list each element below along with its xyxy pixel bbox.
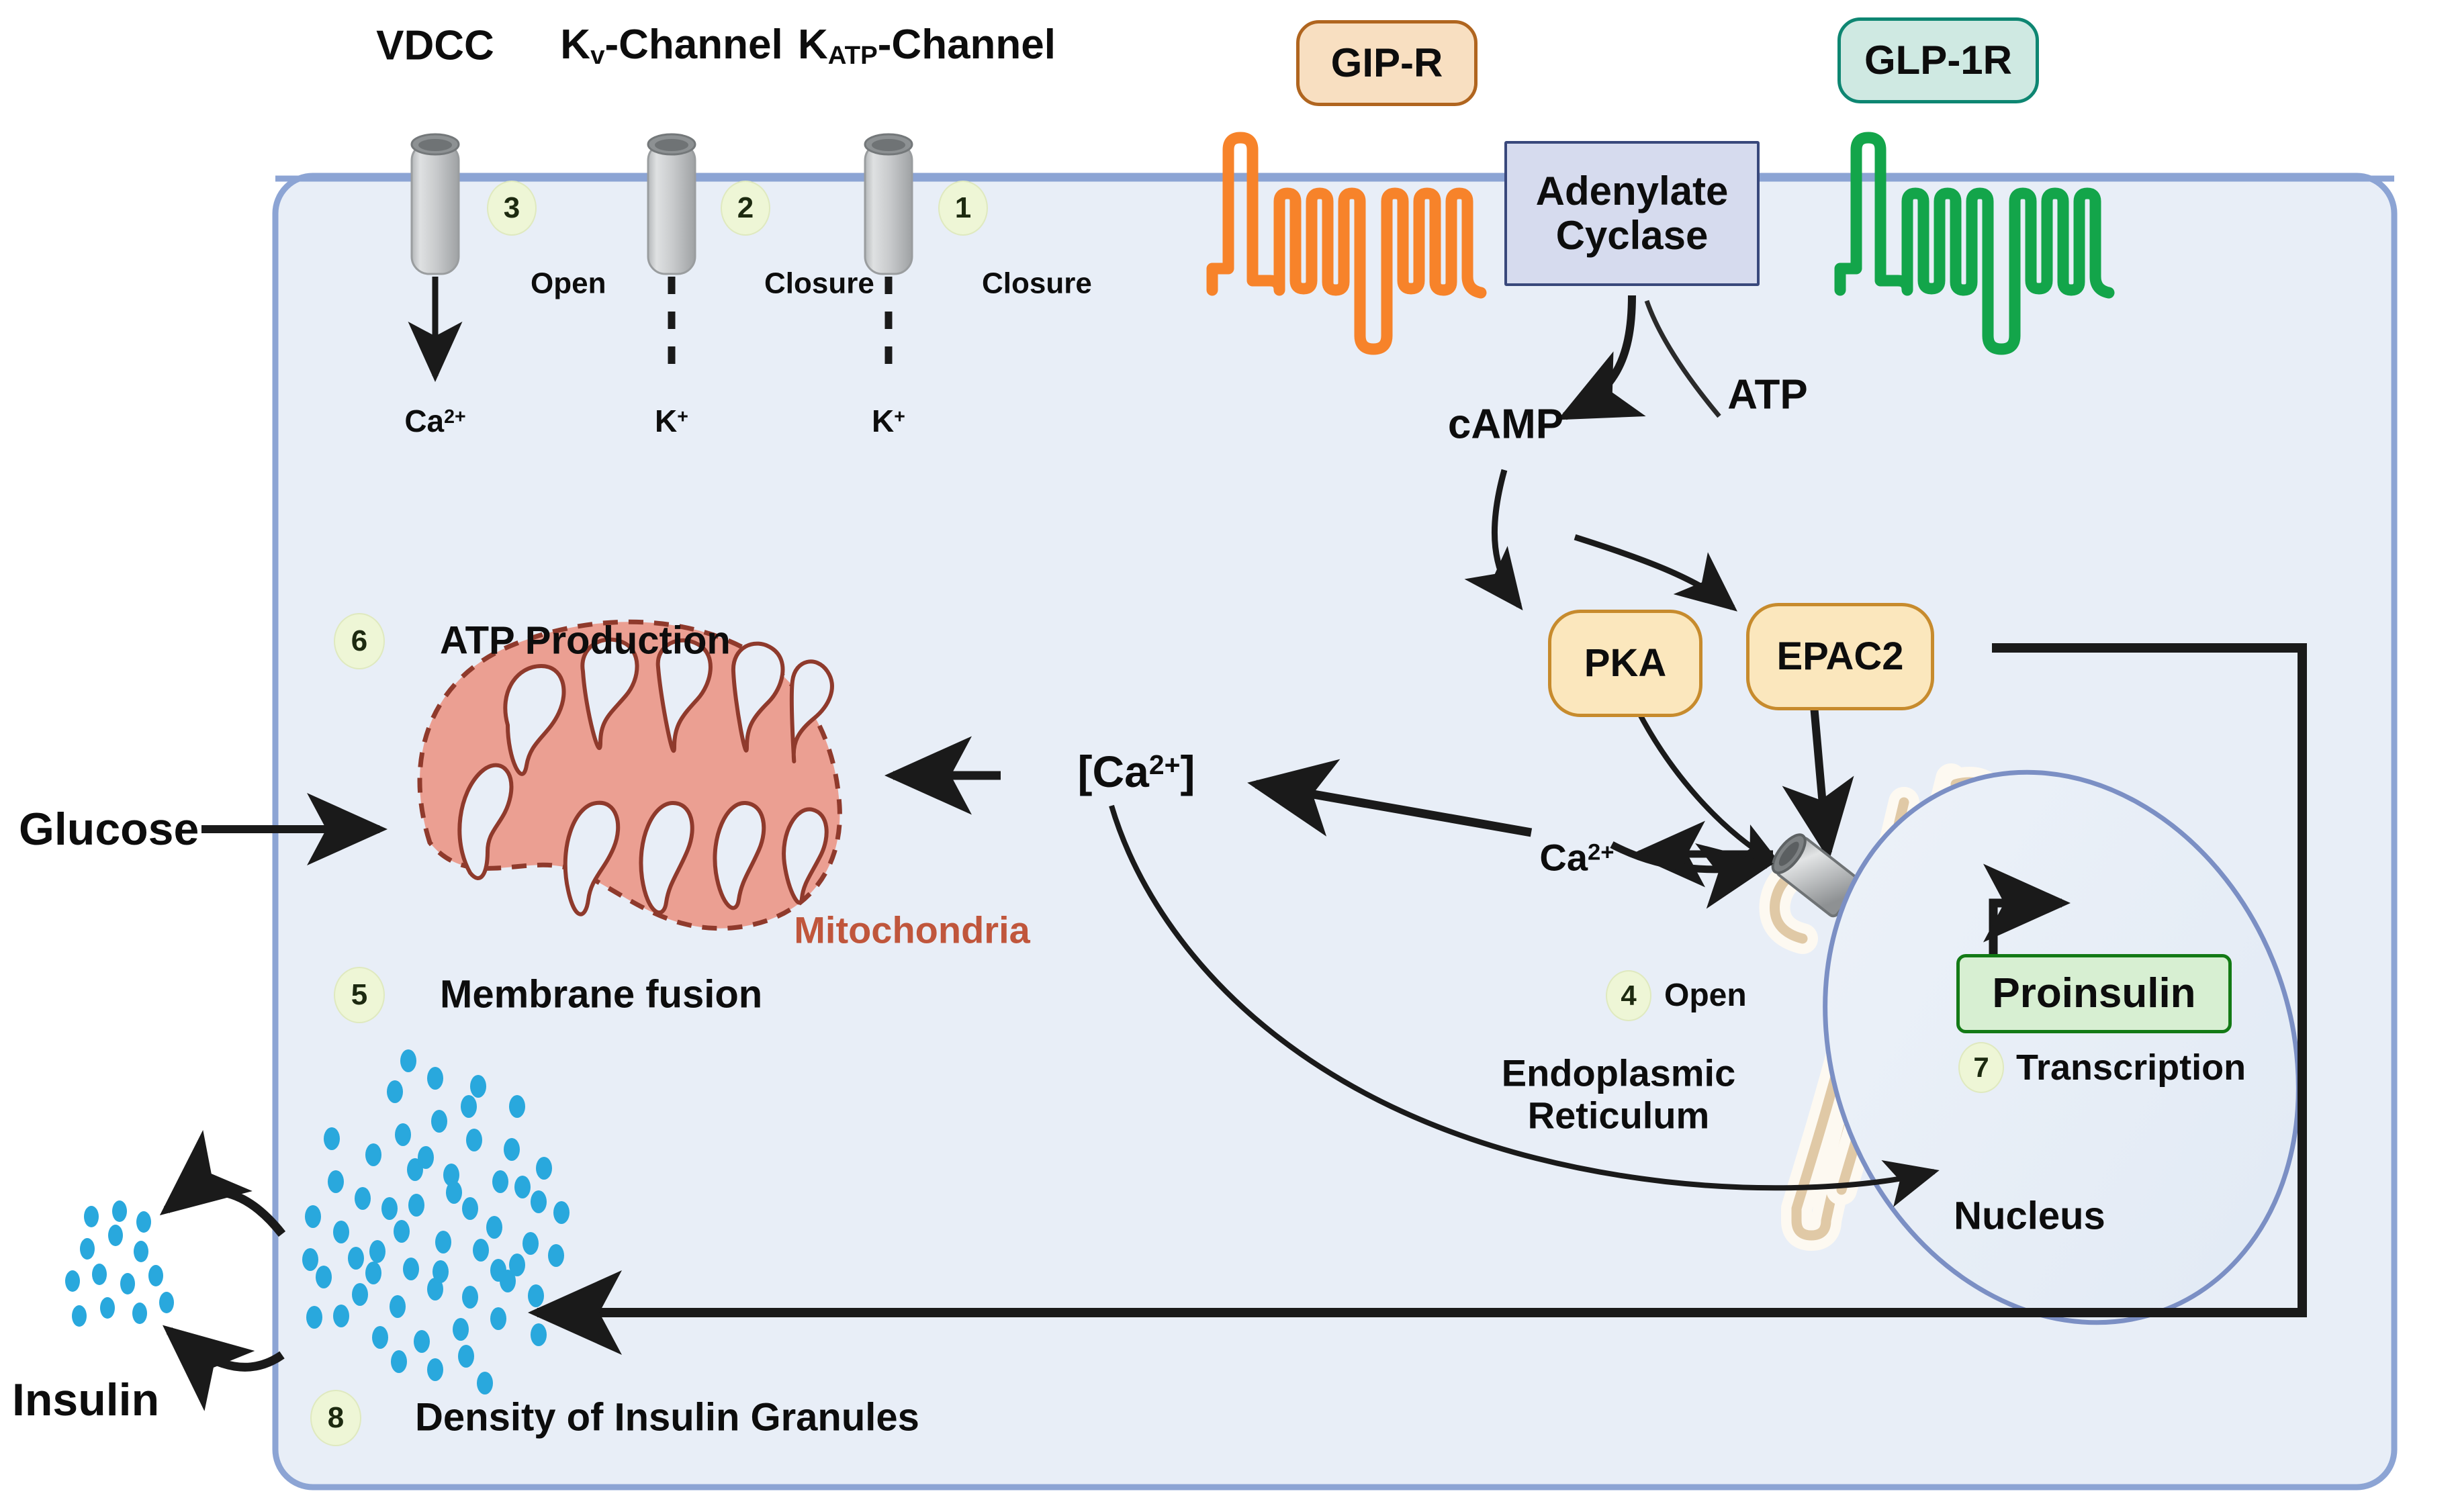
exocytosis-arrow-upper (167, 1192, 282, 1234)
adenylate-cyclase-line2: Cyclase (1556, 214, 1709, 258)
step-badge-1: 1 (938, 181, 988, 236)
step-label-4: Open (1664, 978, 1747, 1014)
step-label-7: Transcription (2016, 1047, 2246, 1088)
er-line-1: Endoplasmic (1502, 1051, 1736, 1094)
step-label-3: Open (531, 267, 606, 299)
insulin-secreted-cluster (65, 1200, 174, 1327)
molecule-label-camp: cAMP (1448, 401, 1563, 447)
step-badge-6: 6 (334, 613, 385, 669)
er-calcium-label: Ca2+ (1539, 837, 1614, 880)
adenylate-cyclase-line1: Adenylate (1536, 169, 1729, 214)
ion-label-potassium-kv: K+ (655, 404, 688, 439)
step-badge-8: 8 (310, 1390, 361, 1446)
adenylate-cyclase-box[interactable]: Adenylate Cyclase (1504, 141, 1760, 286)
pathway-diagram-canvas: VDCC Kv-Channel KATP-Channel 3 Open 2 Cl… (0, 0, 2454, 1512)
step-label-6: ATP Production (440, 620, 731, 663)
channel-kv (648, 134, 695, 274)
molecule-label-atp: ATP (1727, 371, 1807, 418)
exocytosis-arrow-lower (169, 1331, 282, 1367)
step-badge-2: 2 (721, 181, 770, 236)
ion-label-potassium-katp: K+ (872, 404, 905, 439)
channel-title-kv: Kv-Channel (560, 21, 782, 70)
step-label-1: Closure (982, 267, 1092, 299)
external-label-insulin: Insulin (12, 1374, 159, 1425)
er-line-2: Reticulum (1528, 1094, 1710, 1136)
diagram-vector-layer (0, 0, 2454, 1512)
step-label-2: Closure (764, 267, 874, 299)
channel-title-vdcc: VDCC (376, 22, 494, 68)
organelle-label-nucleus: Nucleus (1954, 1195, 2105, 1239)
step-badge-4: 4 (1606, 970, 1651, 1021)
step-badge-3: 3 (487, 181, 537, 236)
receptor-chip-gip-r[interactable]: GIP-R (1296, 20, 1478, 106)
effector-chip-pka[interactable]: PKA (1548, 610, 1702, 717)
ion-label-calcium: Ca2+ (404, 404, 465, 439)
organelle-label-mitochondria: Mitochondria (794, 908, 1030, 952)
cytosolic-calcium-label: [Ca2+] (1078, 747, 1195, 797)
organelle-label-endoplasmic-reticulum: Endoplasmic Reticulum (1502, 1052, 1736, 1136)
channel-katp (865, 134, 912, 274)
channel-vdcc (412, 134, 459, 274)
step-label-8: Density of Insulin Granules (415, 1397, 919, 1440)
channel-title-katp: KATP-Channel (798, 21, 1056, 70)
step-label-5: Membrane fusion (440, 974, 762, 1017)
receptor-chip-glp-1r[interactable]: GLP-1R (1837, 17, 2039, 103)
gene-box-proinsulin[interactable]: Proinsulin (1956, 954, 2232, 1033)
effector-chip-epac2[interactable]: EPAC2 (1746, 603, 1934, 710)
external-label-glucose: Glucose (19, 804, 199, 855)
step-badge-7: 7 (1958, 1042, 2004, 1093)
step-badge-5: 5 (334, 967, 385, 1023)
